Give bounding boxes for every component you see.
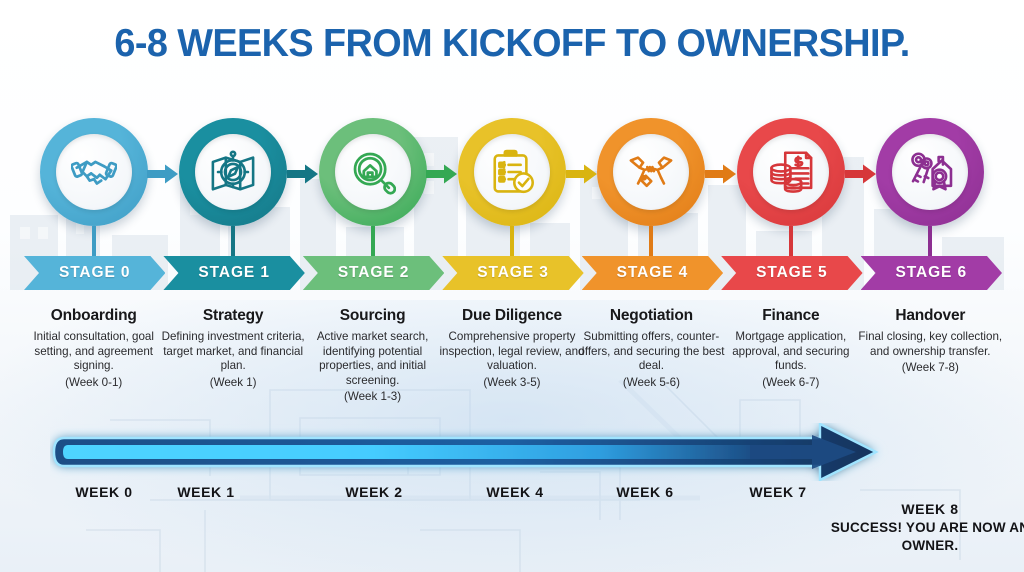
stage-node-1[interactable] [160, 118, 306, 226]
stage-node-3[interactable] [439, 118, 585, 226]
stage-detail: Active market search, identifying potent… [297, 330, 449, 388]
stage-week: (Week 5-6) [575, 376, 727, 389]
connector-arrow-0 [147, 163, 179, 185]
stage-week: (Week 1) [157, 376, 309, 389]
stage-detail: Submitting offers, counter-offers, and s… [575, 330, 727, 374]
week-label-3: WEEK 4 [455, 484, 575, 500]
stage-name: Strategy [157, 307, 309, 324]
compass-map-icon [195, 134, 271, 210]
handshake-icon [56, 134, 132, 210]
stage-name: Finance [715, 307, 867, 324]
stage-banner-0[interactable]: STAGE 0 [24, 256, 165, 290]
stage-detail: Final closing, key collection, and owner… [854, 330, 1006, 359]
coins-invoice-icon [753, 134, 829, 210]
stage-description-0: OnboardingInitial consultation, goal set… [18, 307, 170, 389]
stage-banner-5[interactable]: STAGE 5 [721, 256, 862, 290]
stage-banner-label: STAGE 5 [756, 264, 827, 282]
stage-icon-ring-0 [40, 118, 148, 226]
infographic-canvas: 6-8 WEEKS FROM KICKOFF TO OWNERSHIP. [0, 0, 1024, 572]
keys-house-award-icon [892, 134, 968, 210]
stage-stem-2 [371, 226, 375, 258]
connector-arrow-1 [287, 163, 319, 185]
stage-banner-label: STAGE 2 [338, 264, 409, 282]
stage-name: Handover [854, 307, 1006, 324]
stage-node-5[interactable] [718, 118, 864, 226]
stage-name: Onboarding [18, 307, 170, 324]
final-success-message: WEEK 8 SUCCESS! YOU ARE NOW AN OWNER. [830, 500, 1024, 555]
stage-stem-1 [231, 226, 235, 258]
stage-stem-4 [649, 226, 653, 258]
week-label-2: WEEK 2 [314, 484, 434, 500]
stage-stem-6 [928, 226, 932, 258]
stage-description-4: NegotiationSubmitting offers, counter-of… [575, 307, 727, 389]
stage-node-4[interactable] [578, 118, 724, 226]
stage-description-2: SourcingActive market search, identifyin… [297, 307, 449, 403]
stage-week: (Week 1-3) [297, 390, 449, 403]
stage-banner-label: STAGE 4 [617, 264, 688, 282]
stage-description-6: HandoverFinal closing, key collection, a… [854, 307, 1006, 374]
stage-node-0[interactable] [21, 118, 167, 226]
week-label-5: WEEK 7 [718, 484, 838, 500]
final-week-label: WEEK 8 [830, 500, 1024, 518]
connector-arrow-3 [566, 163, 598, 185]
stage-banner-label: STAGE 6 [896, 264, 967, 282]
stage-node-2[interactable] [300, 118, 446, 226]
stage-detail: Initial consultation, goal setting, and … [18, 330, 170, 374]
connector-arrow-2 [426, 163, 458, 185]
stage-stem-0 [92, 226, 96, 258]
house-search-icon [335, 134, 411, 210]
stage-banner-1[interactable]: STAGE 1 [163, 256, 304, 290]
connector-arrow-4 [705, 163, 737, 185]
timeline-arrow [50, 423, 980, 481]
stage-stem-5 [789, 226, 793, 258]
stage-banner-6[interactable]: STAGE 6 [861, 256, 1002, 290]
stage-week: (Week 0-1) [18, 376, 170, 389]
stage-node-6[interactable] [857, 118, 1003, 226]
week-label-1: WEEK 1 [146, 484, 266, 500]
stage-detail: Comprehensive property inspection, legal… [436, 330, 588, 374]
stage-icon-ring-3 [458, 118, 566, 226]
week-label-4: WEEK 6 [585, 484, 705, 500]
stage-icon-ring-2 [319, 118, 427, 226]
stage-banner-2[interactable]: STAGE 2 [303, 256, 444, 290]
stage-banner-row: STAGE 0STAGE 1STAGE 2STAGE 3STAGE 4STAGE… [24, 256, 1000, 290]
stage-icon-ring-4 [597, 118, 705, 226]
stage-banner-label: STAGE 0 [59, 264, 130, 282]
connector-arrow-5 [845, 163, 877, 185]
stage-week: (Week 6-7) [715, 376, 867, 389]
stage-detail: Defining investment criteria, target mar… [157, 330, 309, 374]
final-message-text: SUCCESS! YOU ARE NOW AN OWNER. [831, 520, 1024, 553]
clipboard-check-icon [474, 134, 550, 210]
negotiation-hands-icon [613, 134, 689, 210]
stage-banner-label: STAGE 3 [477, 264, 548, 282]
stage-icon-ring-6 [876, 118, 984, 226]
stage-banner-label: STAGE 1 [198, 264, 269, 282]
stage-description-1: StrategyDefining investment criteria, ta… [157, 307, 309, 389]
stage-banner-3[interactable]: STAGE 3 [442, 256, 583, 290]
stage-stem-3 [510, 226, 514, 258]
stage-icon-ring-1 [179, 118, 287, 226]
stage-description-5: FinanceMortgage application, approval, a… [715, 307, 867, 389]
stage-week: (Week 7-8) [854, 361, 1006, 374]
stage-description-3: Due DiligenceComprehensive property insp… [436, 307, 588, 389]
stage-icon-ring-5 [737, 118, 845, 226]
stage-name: Sourcing [297, 307, 449, 324]
stage-banner-4[interactable]: STAGE 4 [582, 256, 723, 290]
stage-detail: Mortgage application, approval, and secu… [715, 330, 867, 374]
stage-week: (Week 3-5) [436, 376, 588, 389]
page-title: 6-8 WEEKS FROM KICKOFF TO OWNERSHIP. [15, 22, 1008, 66]
stage-name: Negotiation [575, 307, 727, 324]
stage-name: Due Diligence [436, 307, 588, 324]
